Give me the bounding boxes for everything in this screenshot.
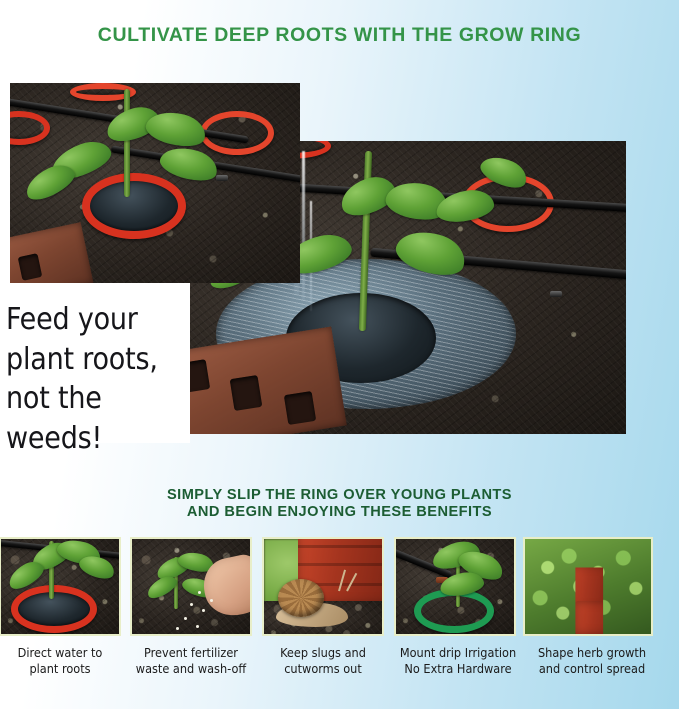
fertilizer-granule	[202, 609, 205, 612]
benefit-captions: Direct water to plant roots Prevent fert…	[0, 645, 679, 695]
caption-line-1: Keep slugs and	[260, 645, 386, 661]
caption-line-2: No Extra Hardware	[388, 661, 528, 677]
caption-line-2: waste and wash-off	[128, 661, 254, 677]
snail-shell	[278, 579, 324, 617]
thumb-green-ring-with-drip-tube	[394, 537, 516, 636]
fertilizer-granule	[210, 599, 213, 602]
subhead-line-1: SIMPLY SLIP THE RING OVER YOUNG PLANTS	[0, 487, 679, 504]
caption-mount-drip-irrigation: Mount drip Irrigation No Extra Hardware	[388, 645, 528, 677]
caption-keep-slugs-out: Keep slugs and cutworms out	[260, 645, 386, 677]
thumb-hand-spreading-fertilizer	[130, 537, 252, 636]
tagline: Feed your plant roots, not the weeds!	[6, 300, 192, 458]
section-subtitle: SIMPLY SLIP THE RING OVER YOUNG PLANTS A…	[0, 487, 679, 521]
thumb-plant-in-red-ring-with-water	[0, 537, 121, 636]
water-stream-2	[302, 151, 305, 301]
page-title: CULTIVATE DEEP ROOTS WITH THE GROW RING	[0, 24, 679, 47]
plant-stem	[124, 89, 130, 197]
brick-hole-3	[284, 391, 316, 425]
caption-line-1: Shape herb growth	[522, 645, 662, 661]
fertilizer-granule	[198, 591, 201, 594]
thumb-herb-growth-around-pots	[523, 537, 653, 636]
caption-line-1: Mount drip Irrigation	[388, 645, 528, 661]
grow-ring-red-main	[82, 173, 186, 239]
brick-hole-2	[230, 375, 263, 411]
pot-rib	[298, 563, 384, 566]
pot-rib	[298, 545, 384, 548]
caption-direct-water: Direct water to plant roots	[0, 645, 123, 677]
benefit-thumbnail-strip	[0, 537, 679, 637]
caption-shape-herb-growth: Shape herb growth and control spread	[522, 645, 662, 677]
photo-tomato-plants-in-red-grow-rings	[10, 83, 300, 283]
drip-emitter-right	[550, 291, 562, 297]
caption-line-2: plant roots	[0, 661, 123, 677]
fertilizer-granule	[196, 625, 199, 628]
caption-line-2: and control spread	[522, 661, 662, 677]
drip-emitter	[216, 175, 228, 181]
thumb-snail-beside-terracotta-pot	[262, 537, 384, 636]
caption-line-1: Direct water to	[0, 645, 123, 661]
fertilizer-granule	[176, 627, 179, 630]
fertilizer-granule	[190, 603, 193, 606]
caption-line-1: Prevent fertilizer	[128, 645, 254, 661]
subhead-line-2: AND BEGIN ENJOYING THESE BENEFITS	[0, 504, 679, 521]
fertilizer-granule	[184, 617, 187, 620]
caption-prevent-fertilizer-waste: Prevent fertilizer waste and wash-off	[128, 645, 254, 677]
caption-line-2: cutworms out	[260, 661, 386, 677]
grow-ring-red	[11, 585, 97, 633]
